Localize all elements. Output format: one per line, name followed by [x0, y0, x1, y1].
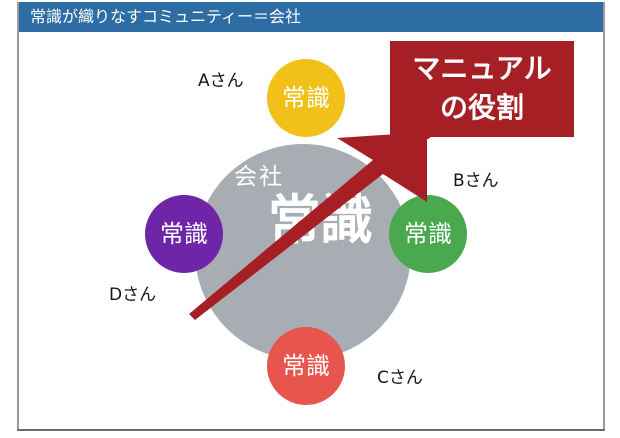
node-label-c: 常識 — [282, 353, 330, 379]
person-label-a: Aさん — [198, 71, 244, 91]
callout-line-2: の役割 — [390, 88, 574, 127]
callout-arrow-icon — [187, 132, 427, 332]
node-circle-a: 常識 — [267, 59, 345, 137]
frame-border-right — [603, 2, 605, 431]
callout-box: マニュアル の役割 — [390, 41, 574, 137]
node-circle-c: 常識 — [267, 327, 345, 405]
slide-canvas: 常識が織りなすコミュニティー＝会社 会社 常識 常識 常識 常識 常識 Aさん … — [0, 0, 620, 438]
node-label-a: 常識 — [282, 85, 330, 111]
callout-line-1: マニュアル — [412, 52, 551, 85]
person-label-b: Bさん — [453, 171, 499, 191]
person-label-d: Dさん — [109, 285, 156, 305]
callout-tail — [397, 137, 431, 159]
person-label-c: Cさん — [377, 368, 423, 388]
callout-text: マニュアル の役割 — [390, 49, 574, 127]
frame-border-bottom — [17, 429, 605, 431]
diagram-area: 会社 常識 常識 常識 常識 常識 Aさん Bさん Cさん Dさん マニュアル … — [19, 32, 603, 429]
slide-title-bar: 常識が織りなすコミュニティー＝会社 — [19, 2, 603, 32]
slide-title: 常識が織りなすコミュニティー＝会社 — [30, 5, 301, 29]
